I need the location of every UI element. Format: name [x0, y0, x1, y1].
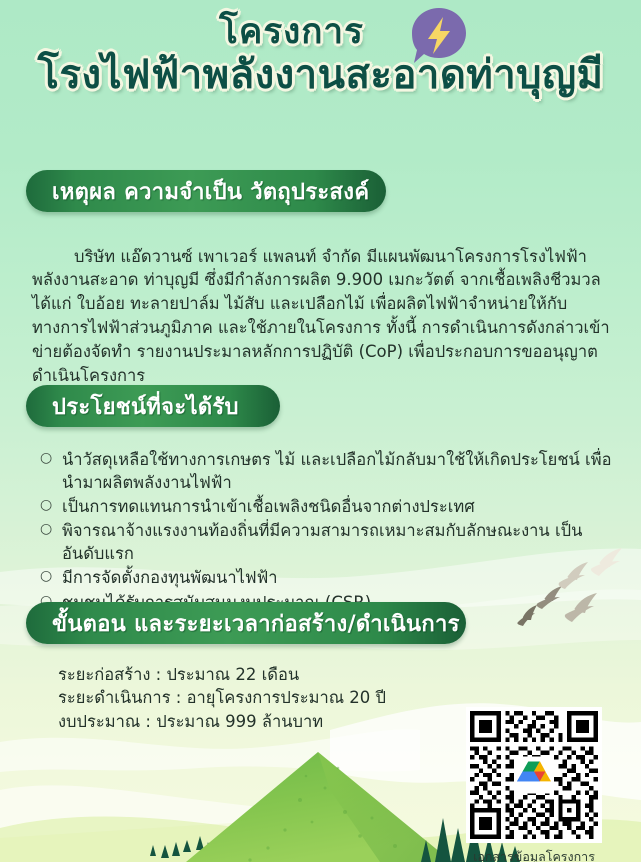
section-header-timeline[interactable]: ขั้นตอน และระยะเวลาก่อสร้าง/ดำเนินการ	[26, 602, 466, 644]
section-header-rationale[interactable]: เหตุผล ความจำเป็น วัตถุประสงค์	[26, 170, 386, 212]
list-item-text: เป็นการทดแทนการนำเข้าเชื้อเพลิงชนิดอื่นจ…	[62, 497, 475, 516]
timeline-budget: งบประมาณ : ประมาณ 999 ล้านบาท	[58, 710, 386, 733]
google-drive-icon	[514, 757, 554, 794]
qr-code-image[interactable]	[466, 707, 602, 843]
bullet-circle-icon: ○	[40, 448, 52, 468]
qr-caption: เอกสารข้อมูลโครงการ	[458, 847, 610, 862]
timeline-operation: ระยะดำเนินการ : อายุโครงการประมาณ 20 ปี	[58, 686, 386, 709]
infographic-poster: โครงการ โรงไฟฟ้าพลังงานสะอาดท่าบุญมี เหต…	[0, 0, 641, 862]
mountain-main	[186, 752, 452, 862]
title-line-2: โรงไฟฟ้าพลังงานสะอาดท่าบุญมี	[0, 53, 641, 97]
poster-title-block: โครงการ โรงไฟฟ้าพลังงานสะอาดท่าบุญมี	[0, 14, 641, 97]
qr-code-block[interactable]: เอกสารข้อมูลโครงการ	[458, 707, 610, 862]
section-header-timeline-label: ขั้นตอน และระยะเวลาก่อสร้าง/ดำเนินการ	[26, 606, 460, 641]
pine-tree-cluster-midleft	[203, 834, 236, 862]
bullet-circle-icon: ○	[40, 495, 52, 515]
bullet-circle-icon: ○	[40, 519, 52, 539]
list-item-text: พิจารณาจ้างแรงงานท้องถิ่นที่มีความสามารถ…	[62, 521, 582, 563]
list-item: ○ มีการจัดตั้งกองทุนพัฒนาไฟฟ้า	[38, 566, 618, 589]
section-header-benefits-label: ประโยชน์ที่จะได้รับ	[26, 389, 239, 424]
timeline-construction: ระยะก่อสร้าง : ประมาณ 22 เดือน	[58, 663, 386, 686]
list-item-text: มีการจัดตั้งกองทุนพัฒนาไฟฟ้า	[62, 568, 278, 587]
list-item: ○ เป็นการทดแทนการนำเข้าเชื้อเพลิงชนิดอื่…	[38, 495, 618, 518]
section-header-benefits[interactable]: ประโยชน์ที่จะได้รับ	[26, 385, 280, 427]
list-item-text: นำวัสดุเหลือใช้ทางการเกษตร ไม้ และเปลือก…	[62, 450, 612, 492]
timeline-details: ระยะก่อสร้าง : ประมาณ 22 เดือน ระยะดำเนิ…	[58, 663, 386, 733]
lightning-bolt-icon	[408, 6, 470, 68]
rationale-paragraph: บริษัท แอ๊ดวานซ์ เพาเวอร์ แพลนท์ จำกัด ม…	[32, 245, 610, 389]
title-line-1: โครงการ	[219, 14, 422, 51]
list-item: ○ พิจารณาจ้างแรงงานท้องถิ่นที่มีความสามา…	[38, 519, 618, 565]
pine-tree-cluster-left	[150, 836, 204, 858]
list-item: ○ นำวัสดุเหลือใช้ทางการเกษตร ไม้ และเปลื…	[38, 448, 618, 494]
section-header-rationale-label: เหตุผล ความจำเป็น วัตถุประสงค์	[26, 174, 369, 209]
bullet-circle-icon: ○	[40, 566, 52, 586]
benefits-list: ○ นำวัสดุเหลือใช้ทางการเกษตร ไม้ และเปลื…	[38, 448, 618, 615]
